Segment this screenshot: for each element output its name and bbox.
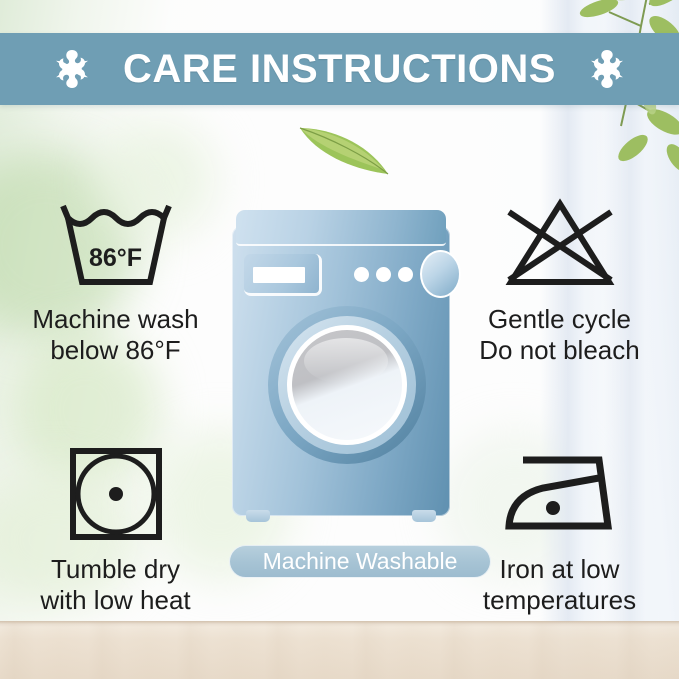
leaf-icon — [296, 122, 392, 180]
program-selector-knob — [420, 250, 461, 298]
iron-icon — [501, 452, 619, 536]
care-instructions-infographic: CARE INSTRUCTIONS 86°F Machine wash belo… — [0, 0, 679, 679]
care-symbol-graphic — [501, 442, 619, 546]
triangle-crossed-icon — [501, 198, 619, 290]
table-grain — [0, 621, 679, 679]
care-symbol-graphic — [68, 442, 164, 546]
drawer-slot — [253, 267, 305, 283]
wash-temperature-value: 86°F — [55, 244, 177, 273]
care-symbol-iron-low: Iron at low temperatures — [452, 442, 667, 616]
machine-washable-badge: Machine Washable — [229, 545, 491, 578]
fleur-de-lis-icon — [578, 45, 636, 93]
tumble-dry-square-icon — [68, 446, 164, 542]
care-symbol-caption: Tumble dry with low heat — [40, 554, 190, 616]
care-symbol-caption: Gentle cycle Do not bleach — [479, 304, 639, 366]
badge-label: Machine Washable — [263, 550, 458, 573]
indicator-dot — [398, 267, 413, 282]
care-symbol-caption: Iron at low temperatures — [483, 554, 636, 616]
washing-machine-illustration — [232, 210, 450, 526]
washer-foot — [412, 510, 436, 522]
door-reflection — [304, 338, 388, 384]
care-symbol-graphic — [501, 192, 619, 296]
care-symbol-tumble-dry: Tumble dry with low heat — [8, 442, 223, 616]
care-symbol-machine-wash: 86°F Machine wash below 86°F — [8, 192, 223, 366]
washer-foot — [246, 510, 270, 522]
indicator-dot — [354, 267, 369, 282]
washer-top-panel — [236, 210, 446, 246]
page-title: CARE INSTRUCTIONS — [123, 49, 556, 89]
detergent-drawer — [244, 254, 322, 296]
door-inner-ring — [287, 325, 407, 445]
door-glass — [292, 330, 402, 440]
indicator-dot — [376, 267, 391, 282]
header-banner: CARE INSTRUCTIONS — [0, 33, 679, 105]
fleur-de-lis-icon — [43, 45, 101, 93]
care-symbol-do-not-bleach: Gentle cycle Do not bleach — [452, 192, 667, 366]
table-surface — [0, 621, 679, 679]
care-symbol-caption: Machine wash below 86°F — [32, 304, 198, 366]
door-ring — [278, 316, 416, 454]
care-symbol-graphic: 86°F — [55, 192, 177, 296]
washer-door — [268, 306, 426, 464]
